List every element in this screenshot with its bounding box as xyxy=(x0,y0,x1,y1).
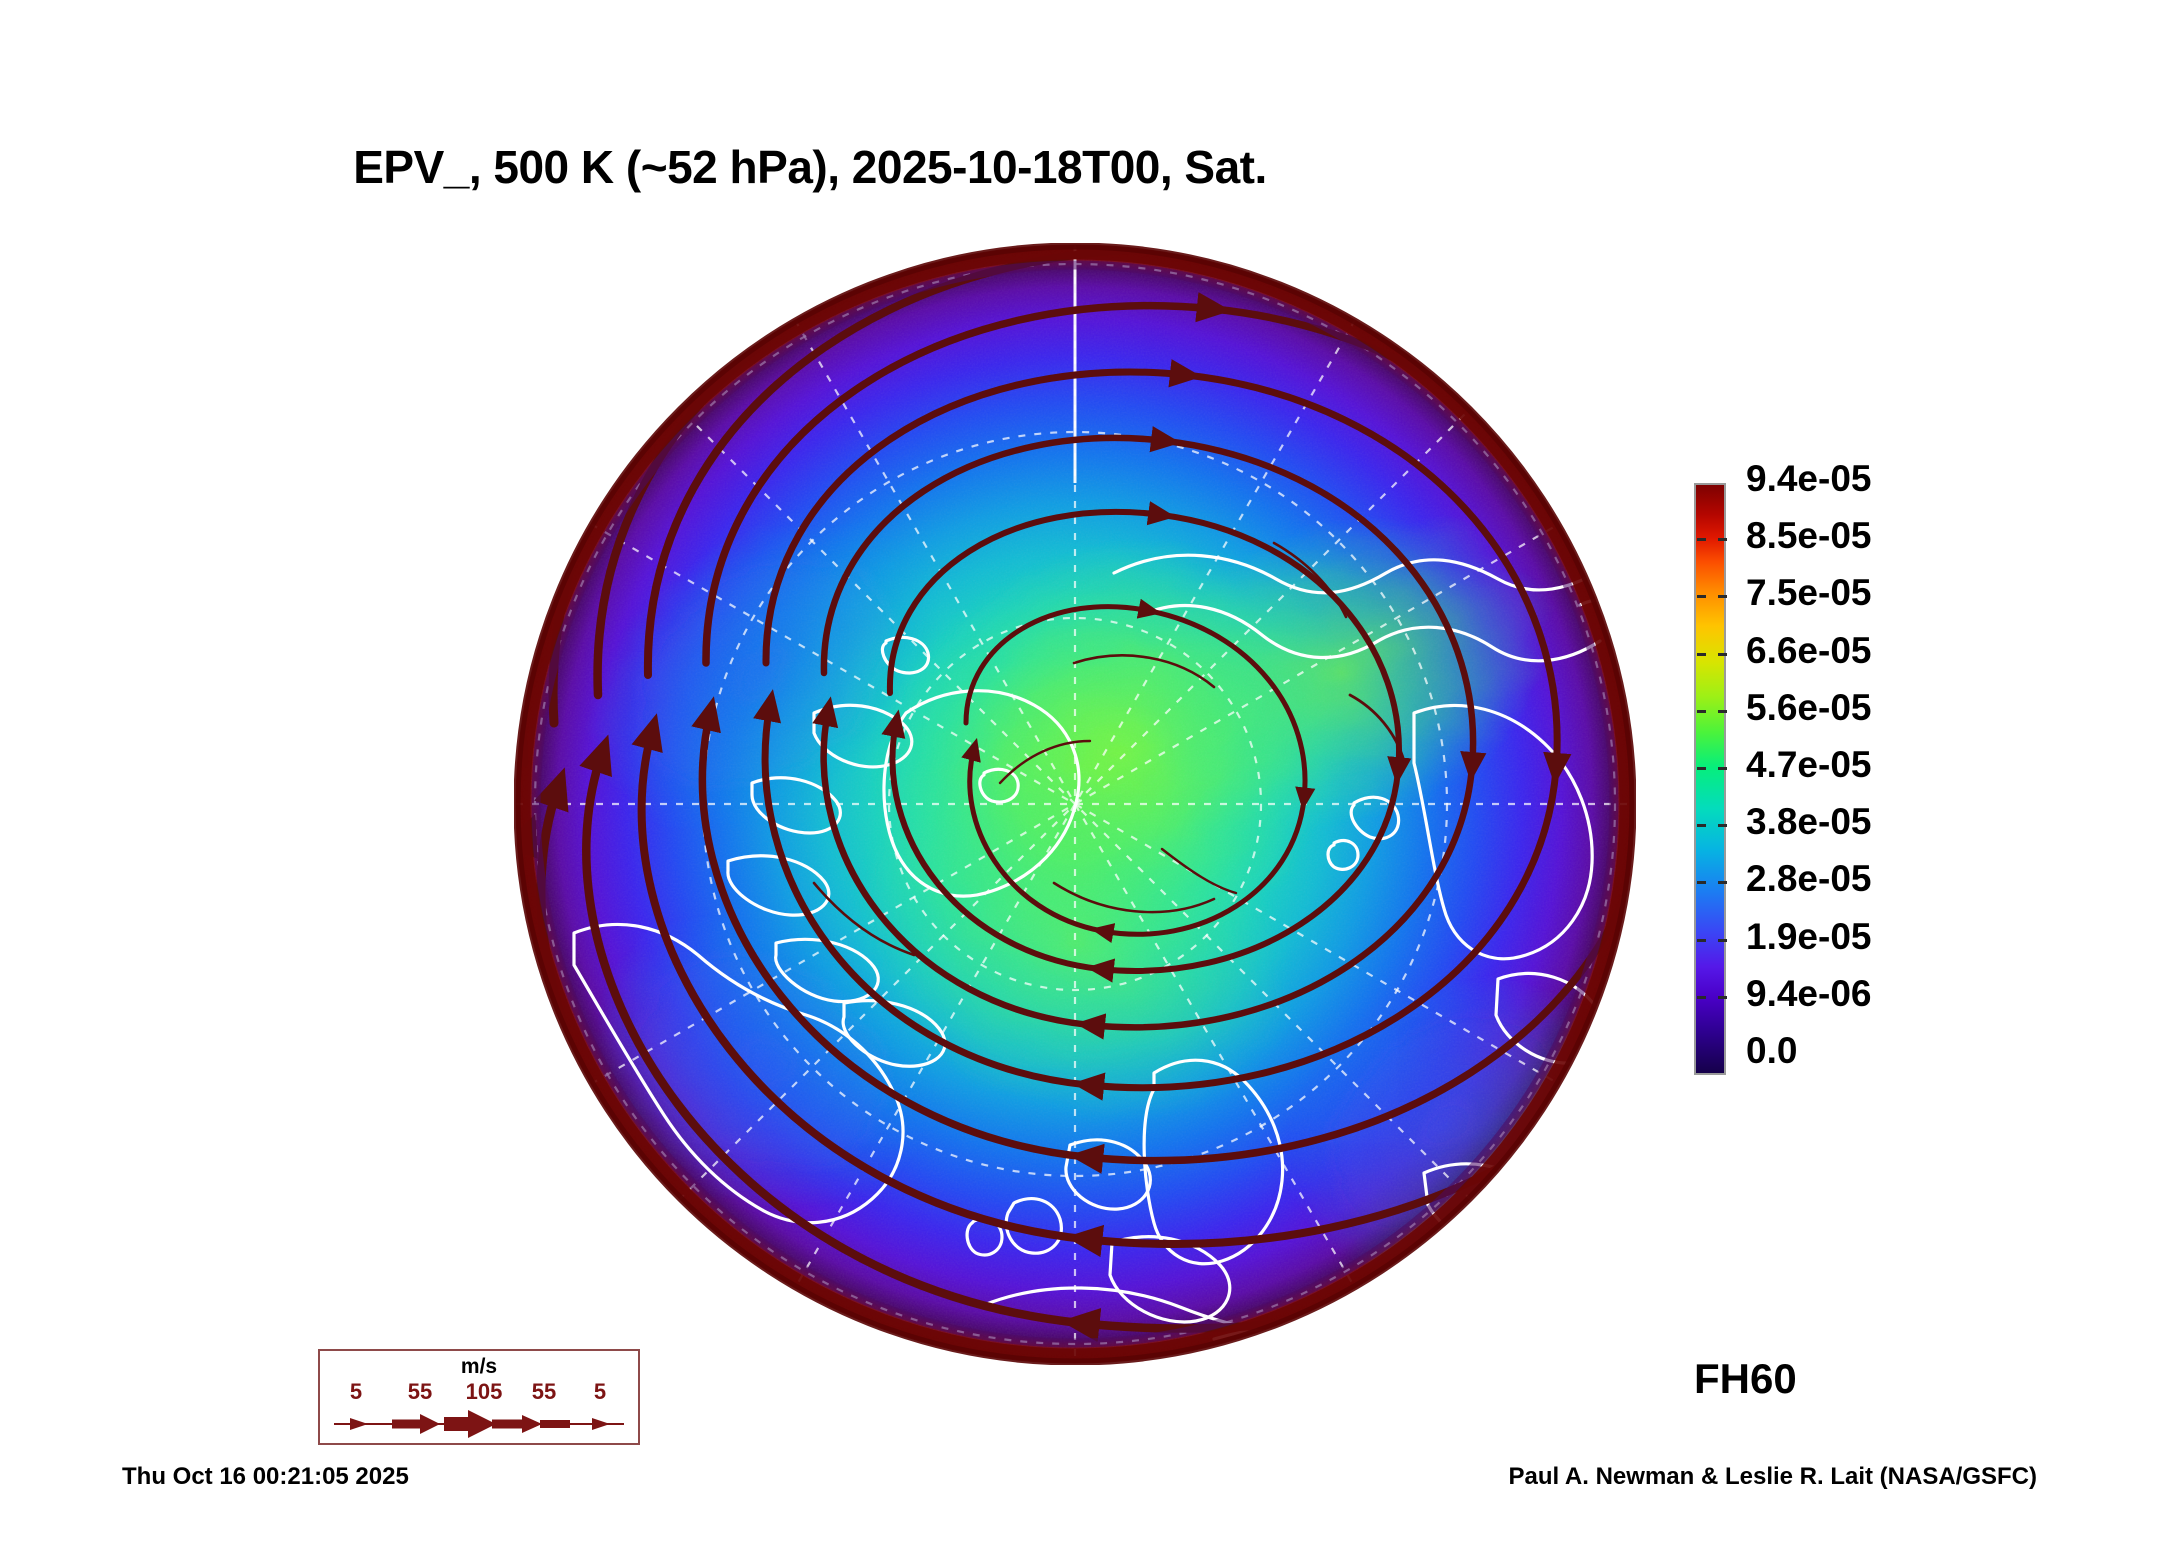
colorbar-label: 1.9e-05 xyxy=(1746,918,2006,955)
colorbar-label: 4.7e-05 xyxy=(1746,746,2006,783)
author-credit: Paul A. Newman & Leslie R. Lait (NASA/GS… xyxy=(1508,1463,2037,1491)
colorbar-label: 2.8e-05 xyxy=(1746,860,2006,897)
wind-legend-tick: 5 xyxy=(576,1379,624,1405)
colorbar-label: 9.4e-05 xyxy=(1746,460,2006,497)
wind-legend-tick: 5 xyxy=(332,1379,380,1405)
colorbar-tick xyxy=(1696,538,1728,541)
wind-legend-tick: 55 xyxy=(394,1379,446,1405)
wind-legend-arrow-scale xyxy=(320,1407,638,1441)
colorbar-tick xyxy=(1696,996,1728,999)
figure-canvas: EPV_, 500 K (~52 hPa), 2025-10-18T00, Sa… xyxy=(0,0,2165,1561)
colorbar-tick xyxy=(1696,595,1728,598)
wind-legend-tick: 105 xyxy=(454,1379,514,1405)
colorbar-label: 8.5e-05 xyxy=(1746,517,2006,554)
colorbar-tick xyxy=(1696,881,1728,884)
colorbar-label: 0.0 xyxy=(1746,1032,2006,1069)
colorbar-label: 6.6e-05 xyxy=(1746,632,2006,669)
colorbar-tick xyxy=(1696,710,1728,713)
colorbar-label: 3.8e-05 xyxy=(1746,803,2006,840)
map-svg xyxy=(514,243,1636,1365)
wind-speed-legend: m/s 5 55 105 55 5 xyxy=(318,1349,640,1445)
wind-legend-units: m/s xyxy=(320,1355,638,1379)
wind-legend-tick: 55 xyxy=(518,1379,570,1405)
page-title: EPV_, 500 K (~52 hPa), 2025-10-18T00, Sa… xyxy=(0,140,1620,194)
polar-map xyxy=(514,243,1636,1365)
generation-timestamp: Thu Oct 16 00:21:05 2025 xyxy=(122,1463,409,1491)
colorbar-label: 9.4e-06 xyxy=(1746,975,2006,1012)
colorbar-label: 5.6e-05 xyxy=(1746,689,2006,726)
forecast-hour-label: FH60 xyxy=(1694,1355,1797,1403)
colorbar-tick xyxy=(1696,939,1728,942)
colorbar-tick xyxy=(1696,653,1728,656)
colorbar-gradient xyxy=(1694,483,1726,1075)
colorbar-label: 7.5e-05 xyxy=(1746,574,2006,611)
colorbar: 9.4e-05 8.5e-05 7.5e-05 6.6e-05 5.6e-05 … xyxy=(1694,478,2114,1098)
colorbar-tick xyxy=(1696,824,1728,827)
colorbar-tick xyxy=(1696,767,1728,770)
